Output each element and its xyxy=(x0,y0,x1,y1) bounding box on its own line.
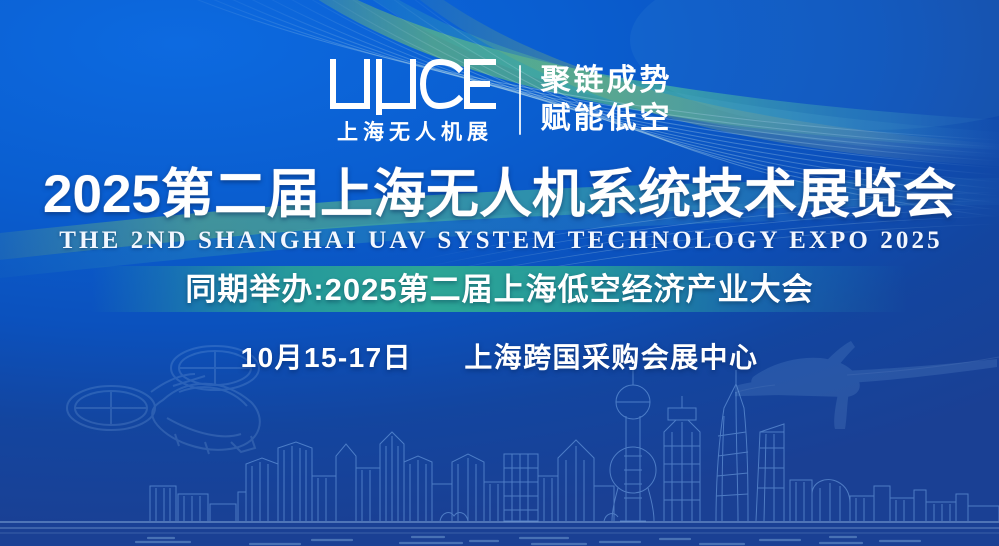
logo-divider xyxy=(519,65,521,135)
slogan-block: 聚链成势 赋能低空 xyxy=(541,64,673,137)
event-venue: 上海跨国采购会展中心 xyxy=(464,342,758,373)
concurrent-event-banner: 同期举办:2025第二届上海低空经济产业大会 xyxy=(92,266,907,312)
logo-lockup: 上海无人机展 聚链成势 赋能低空 xyxy=(0,50,999,150)
title-block: 2025第二届上海无人机系统技术展览会 THE 2ND SHANGHAI UAV… xyxy=(0,168,999,253)
page-title: 2025第二届上海无人机系统技术展览会 xyxy=(0,168,999,221)
event-meta: 10月15-17日 上海跨国采购会展中心 xyxy=(0,344,999,372)
concurrent-event-text: 同期举办:2025第二届上海低空经济产业大会 xyxy=(185,274,813,305)
event-poster: 上海无人机展 聚链成势 赋能低空 2025第二届上海无人机系统技术展览会 THE… xyxy=(0,0,999,546)
slogan-line-1: 聚链成势 xyxy=(541,64,673,99)
page-subtitle-english: THE 2ND SHANGHAI UAV SYSTEM TECHNOLOGY E… xyxy=(0,228,999,253)
brand-logo-chinese: 上海无人机展 xyxy=(332,122,493,143)
brand-logo: 上海无人机展 xyxy=(327,58,499,143)
event-date: 10月15-17日 xyxy=(241,342,412,373)
uuce-logo-icon xyxy=(327,58,499,116)
slogan-line-2: 赋能低空 xyxy=(541,102,673,137)
